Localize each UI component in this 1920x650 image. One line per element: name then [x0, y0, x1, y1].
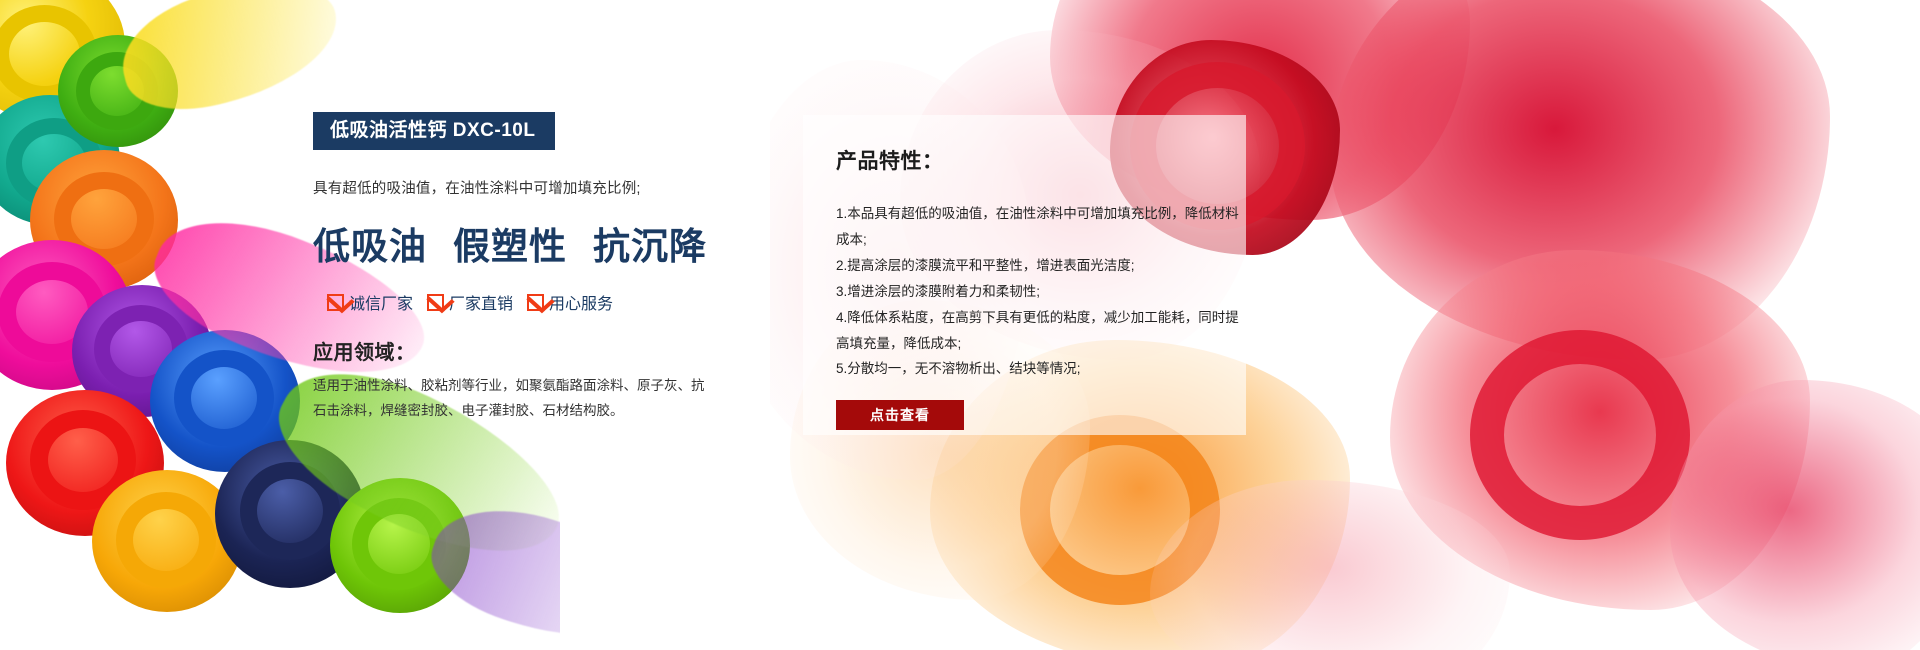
trust-feature-row: 诚信厂家 厂家直销 用心服务 [327, 290, 733, 314]
product-features-panel: 产品特性： 1.本品具有超低的吸油值，在油性涂料中可增加填充比例，降低材料成本;… [803, 115, 1246, 435]
trust-feature-item-1[interactable]: 诚信厂家 [327, 290, 413, 314]
check-icon [327, 294, 344, 311]
trust-feature-item-2[interactable]: 厂家直销 [427, 290, 513, 314]
headline-word-2: 假塑性 [453, 227, 567, 268]
trust-feature-label-3: 用心服务 [549, 290, 613, 314]
paint-ring-blue [174, 350, 274, 446]
product-feature-item-2: 2.提高涂层的漆膜流平和平整性，增进表面光洁度; [836, 253, 1241, 279]
product-features-title: 产品特性： [836, 145, 1256, 175]
trust-feature-label-1: 诚信厂家 [349, 290, 413, 314]
product-headline: 低吸油假塑性抗沉降 [313, 216, 733, 270]
product-feature-item-3: 3.增进涂层的漆膜附着力和柔韧性; [836, 279, 1241, 305]
left-content-column: 低吸油活性钙 DXC-10L 具有超低的吸油值，在油性涂料中可增加填充比例; 低… [313, 112, 733, 424]
paint-ring-scarlet-mid [1470, 330, 1690, 540]
product-subtitle: 具有超低的吸油值，在油性涂料中可增加填充比例; [313, 177, 733, 198]
trust-feature-label-2: 厂家直销 [449, 290, 513, 314]
click-to-view-button[interactable]: 点击查看 [836, 400, 964, 430]
product-features-list: 1.本品具有超低的吸油值，在油性涂料中可增加填充比例，降低材料成本; 2.提高涂… [836, 201, 1241, 382]
paint-ring-amber [116, 492, 216, 588]
application-section-title: 应用领域： [313, 336, 733, 365]
headline-word-3: 抗沉降 [593, 227, 707, 268]
trust-feature-item-3[interactable]: 用心服务 [527, 290, 613, 314]
headline-word-1: 低吸油 [313, 227, 427, 268]
check-icon [527, 294, 544, 311]
product-feature-item-5: 5.分散均一，无不溶物析出、结块等情况; [836, 356, 1241, 382]
product-feature-item-4: 4.降低体系粘度，在高剪下具有更低的粘度，减少加工能耗，同时提高填充量，降低成本… [836, 305, 1241, 357]
application-section-body: 适用于油性涂料、胶粘剂等行业，如聚氨酯路面涂料、原子灰、抗石击涂料，焊缝密封胶、… [313, 374, 713, 424]
product-features-panel-inner: 产品特性： 1.本品具有超低的吸油值，在油性涂料中可增加填充比例，降低材料成本;… [836, 145, 1256, 430]
product-title-badge: 低吸油活性钙 DXC-10L [313, 112, 555, 150]
promo-banner: 低吸油活性钙 DXC-10L 具有超低的吸油值，在油性涂料中可增加填充比例; 低… [0, 0, 1920, 650]
product-feature-item-1: 1.本品具有超低的吸油值，在油性涂料中可增加填充比例，降低材料成本; [836, 201, 1241, 253]
check-icon [427, 294, 444, 311]
